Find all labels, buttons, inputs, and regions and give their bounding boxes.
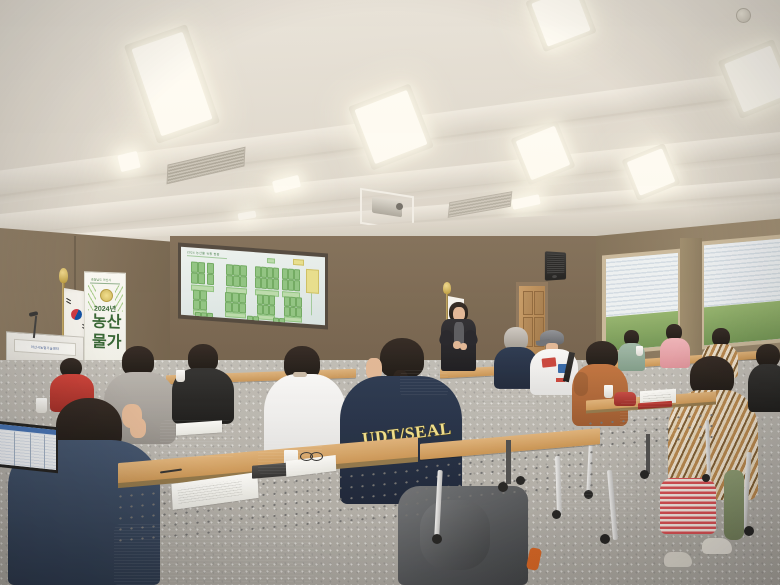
- spreadsheet-column-line: [44, 435, 45, 469]
- smoke-detector: [736, 8, 751, 23]
- attendee-pink-top: [660, 338, 690, 368]
- slide-title-rule: [187, 255, 227, 259]
- banner-emblem: [100, 289, 113, 302]
- slide-side-rule: [311, 293, 312, 315]
- spreadsheet-rows: [0, 430, 56, 470]
- mesh-task-chair[interactable]: [160, 420, 234, 458]
- banner-top-text: 충청남도 아산시: [91, 278, 111, 283]
- taegeuk-symbol: [69, 307, 83, 321]
- shoe: [664, 552, 692, 567]
- jacket-fold: [420, 500, 490, 570]
- spreadsheet-column-line: [14, 432, 15, 466]
- desktop-monitor-screen: [0, 424, 56, 470]
- attendee-leg: [724, 470, 744, 540]
- paper-cup[interactable]: [636, 346, 643, 356]
- mesh-task-chair[interactable]: [478, 388, 536, 420]
- shoe: [702, 538, 732, 554]
- attendee-checkered-pants: [660, 478, 716, 534]
- chair-base-post: [646, 434, 650, 474]
- projection-screen: 2024 농산물 유통 현황: [181, 247, 325, 326]
- slide-chip: [267, 258, 275, 264]
- event-banner: 충청남도 아산시 2024년 농산 물가: [84, 271, 126, 370]
- chair-caster: [516, 476, 525, 485]
- window-left-blinds[interactable]: [606, 253, 678, 317]
- door-panel: [534, 291, 544, 315]
- projector-lens: [396, 203, 403, 210]
- hair-tie: [293, 372, 307, 377]
- mesh-task-chair[interactable]: [400, 370, 448, 396]
- attendee-right-edge-body: [748, 364, 780, 412]
- banner-leaf-ornament: [115, 285, 123, 311]
- mesh-task-chair[interactable]: [560, 470, 636, 514]
- attendee-orange-ruffle: [574, 372, 588, 396]
- chair-caster: [744, 526, 754, 536]
- chair-caster: [640, 470, 649, 479]
- mesh-task-chair[interactable]: [114, 524, 314, 585]
- door-panel: [523, 291, 533, 315]
- mesh-task-chair[interactable]: [258, 440, 322, 474]
- presenter-hand: [460, 343, 467, 350]
- lectern-sign-text: 아산시농업기술센터: [31, 344, 59, 351]
- paper-text-lines: [178, 479, 243, 504]
- flag-pole-finial: [443, 282, 451, 294]
- window-right-blinds[interactable]: [704, 239, 780, 308]
- lecture-room-photo: 2024 농산물 유통 현황: [0, 0, 780, 585]
- speaker-tweeter: [552, 275, 557, 278]
- chair-caster: [498, 482, 508, 492]
- banner-line-2: 농산: [92, 315, 121, 332]
- paper-cup[interactable]: [36, 398, 47, 413]
- attendee-front-left-hand: [122, 404, 142, 428]
- spreadsheet-column-line: [30, 433, 31, 467]
- wall-speaker: [545, 251, 566, 280]
- table-caster: [702, 474, 710, 482]
- paper-cup[interactable]: [604, 385, 613, 398]
- chair-base-post: [506, 440, 511, 484]
- shirt-graphic-red: [542, 357, 557, 367]
- speaker-grille: [547, 253, 564, 274]
- chair-caster: [600, 534, 610, 544]
- slide-side-card: [306, 269, 319, 294]
- slide-highlight-chip: [293, 259, 304, 266]
- paper-cup[interactable]: [176, 370, 185, 382]
- mesh-task-chair[interactable]: [620, 400, 680, 434]
- banner-line-3: 물가: [92, 335, 121, 352]
- flag-pole-finial: [59, 268, 68, 283]
- table-caster: [432, 534, 442, 544]
